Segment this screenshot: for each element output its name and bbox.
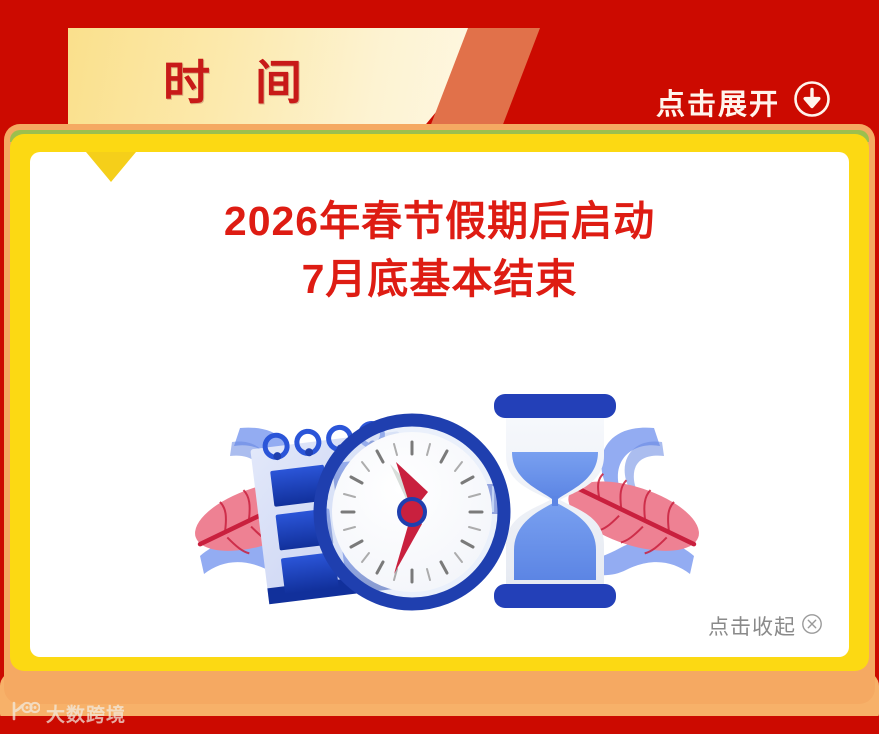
watermark-text: 大数跨境 [46, 700, 126, 727]
arrow-down-circle-icon[interactable] [793, 80, 831, 123]
collapse-button[interactable]: 点击收起 [708, 611, 823, 641]
expand-button[interactable]: 点击展开 [656, 80, 831, 123]
close-circle-icon[interactable] [801, 613, 823, 640]
header-banner: 时 间 点击展开 [0, 0, 879, 132]
collapse-button-label: 点击收起 [708, 611, 796, 641]
content-card: 2026年春节假期后启动 7月底基本结束 [30, 152, 849, 657]
footer-background [0, 716, 879, 734]
watermark: 大数跨境 [10, 700, 126, 727]
stopwatch-clock-icon [316, 416, 508, 608]
page-title: 时 间 [163, 59, 318, 106]
expand-button-label: 点击展开 [656, 81, 780, 123]
headline-line-1: 2026年春节假期后启动 [30, 192, 849, 250]
calendar-clock-hourglass-illustration [182, 384, 712, 624]
headline: 2026年春节假期后启动 7月底基本结束 [30, 192, 849, 308]
brand-logo-icon [10, 700, 40, 727]
headline-line-2: 7月底基本结束 [30, 250, 849, 308]
card-pointer-triangle [86, 152, 136, 182]
